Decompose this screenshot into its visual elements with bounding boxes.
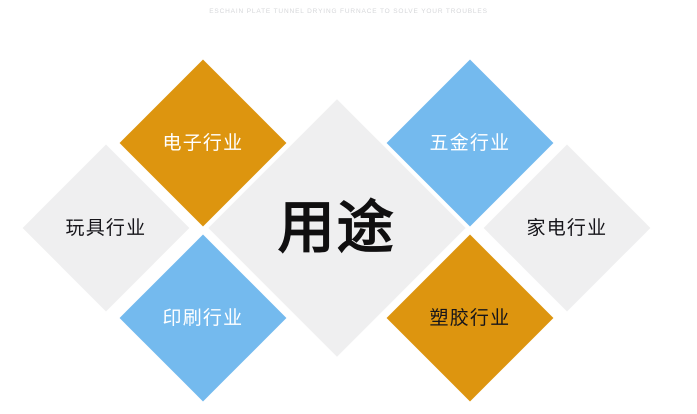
slide-canvas: ESCHAIN PLATE TUNNEL DRYING FURNACE TO S… (0, 0, 697, 414)
diamond-hardware-label: 五金行业 (430, 134, 511, 153)
diamond-home-appliance-label: 家电行业 (527, 219, 608, 238)
diamond-printing-label: 印刷行业 (163, 309, 244, 328)
diamond-diagram: 玩具行业 家电行业 用途 电子行业 五金行业 印刷行业 塑胶行业 (0, 0, 697, 414)
diamond-toys-label: 玩具行业 (66, 219, 147, 238)
diamond-plastics-label: 塑胶行业 (430, 309, 511, 328)
diamond-electronics-label: 电子行业 (163, 134, 244, 153)
diamond-hub-label: 用途 (278, 200, 396, 257)
